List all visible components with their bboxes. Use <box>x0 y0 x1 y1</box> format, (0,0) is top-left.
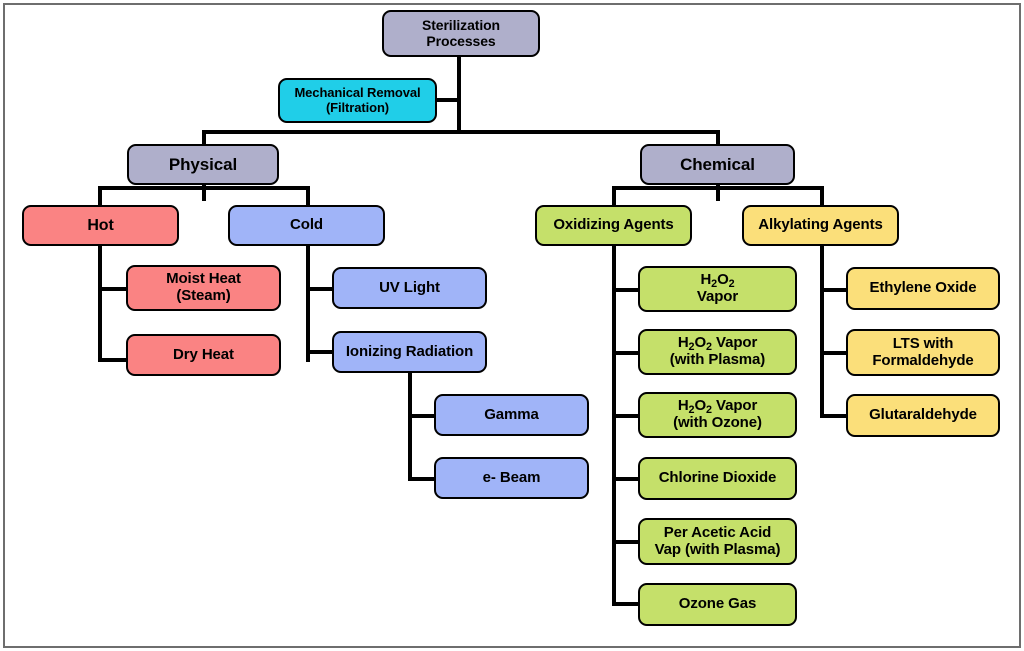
node-h2o2-ozone-line2: (with Ozone) <box>673 414 762 431</box>
connector-cold-spine <box>306 244 310 362</box>
connector-glutaraldehyde-tap <box>820 414 848 418</box>
node-root-line2: Processes <box>426 33 495 49</box>
connector-chlorine-dioxide-tap <box>612 477 640 481</box>
node-dry-heat[interactable]: Dry Heat <box>126 334 281 376</box>
node-lts-line1: LTS with <box>893 335 954 352</box>
connector-ionizing-spine <box>408 371 412 481</box>
node-ozone-gas[interactable]: Ozone Gas <box>638 583 797 626</box>
node-moist-heat-line2: (Steam) <box>176 287 230 304</box>
connector-cold-drop <box>306 186 310 206</box>
node-per-acetic-line2: Vap (with Plasma) <box>655 541 781 558</box>
connector-mechanical-tap <box>434 98 459 102</box>
connector-hot-spine <box>98 244 102 362</box>
connector-uv-tap <box>306 287 334 291</box>
node-ethylene-oxide-label: Ethylene Oxide <box>851 280 995 297</box>
node-sterilization-processes[interactable]: Sterilization Processes <box>382 10 540 57</box>
node-h2o2-ozone-formula: H2O2 Vapor <box>678 397 757 414</box>
connector-h2o2-ozone-tap <box>612 414 640 418</box>
node-e-beam-label: e- Beam <box>439 470 584 487</box>
node-chlorine-dioxide[interactable]: Chlorine Dioxide <box>638 457 797 500</box>
node-e-beam[interactable]: e- Beam <box>434 457 589 499</box>
connector-lts-tap <box>820 351 848 355</box>
node-chemical[interactable]: Chemical <box>640 144 795 185</box>
node-dry-heat-label: Dry Heat <box>131 347 276 364</box>
node-hot-label: Hot <box>27 217 174 235</box>
node-mechanical-line2: (Filtration) <box>326 100 389 115</box>
connector-chemical-bar <box>612 186 824 190</box>
node-alkylating-agents-label: Alkylating Agents <box>747 217 894 234</box>
node-chlorine-dioxide-label: Chlorine Dioxide <box>643 470 792 487</box>
node-per-acetic-line1: Per Acetic Acid <box>664 524 771 541</box>
connector-h2o2-plasma-tap <box>612 351 640 355</box>
node-alkylating-agents[interactable]: Alkylating Agents <box>742 205 899 246</box>
node-h2o2-plasma-line2: (with Plasma) <box>670 351 765 368</box>
connector-oxidizing-drop <box>612 186 616 206</box>
diagram-canvas: Sterilization Processes Mechanical Remov… <box>0 0 1024 651</box>
node-lts-with-formaldehyde[interactable]: LTS with Formaldehyde <box>846 329 1000 376</box>
node-oxidizing-agents[interactable]: Oxidizing Agents <box>535 205 692 246</box>
connector-dry-heat-tap <box>98 358 128 362</box>
node-ionizing-radiation[interactable]: Ionizing Radiation <box>332 331 487 373</box>
connector-physical-bar <box>98 186 310 190</box>
connector-ebeam-tap <box>408 477 436 481</box>
node-physical-label: Physical <box>132 155 274 174</box>
node-mechanical-line1: Mechanical Removal <box>294 85 420 100</box>
node-moist-heat-line1: Moist Heat <box>166 270 241 287</box>
node-root-line1: Sterilization <box>422 17 500 33</box>
node-per-acetic-acid-vap[interactable]: Per Acetic Acid Vap (with Plasma) <box>638 518 797 565</box>
node-h2o2-vapor-ozone[interactable]: H2O2 Vapor (with Ozone) <box>638 392 797 438</box>
connector-ozone-gas-tap <box>612 602 640 606</box>
node-ozone-gas-label: Ozone Gas <box>643 596 792 613</box>
connector-per-acetic-tap <box>612 540 640 544</box>
node-cold[interactable]: Cold <box>228 205 385 246</box>
node-ionizing-radiation-label: Ionizing Radiation <box>337 344 482 361</box>
connector-moist-heat-tap <box>98 287 128 291</box>
node-physical[interactable]: Physical <box>127 144 279 185</box>
node-uv-light-label: UV Light <box>337 280 482 297</box>
node-h2o2-vapor-formula: H2O2 <box>700 271 734 288</box>
connector-hot-drop <box>98 186 102 206</box>
node-hot[interactable]: Hot <box>22 205 179 246</box>
connector-alkylating-spine <box>820 244 824 418</box>
node-moist-heat[interactable]: Moist Heat (Steam) <box>126 265 281 311</box>
node-h2o2-plasma-formula: H2O2 Vapor <box>678 334 757 351</box>
connector-ionizing-tap <box>306 350 334 354</box>
node-glutaraldehyde-label: Glutaraldehyde <box>851 407 995 424</box>
connector-oxidizing-spine <box>612 244 616 606</box>
node-h2o2-vapor-plasma[interactable]: H2O2 Vapor (with Plasma) <box>638 329 797 375</box>
node-ethylene-oxide[interactable]: Ethylene Oxide <box>846 267 1000 310</box>
node-glutaraldehyde[interactable]: Glutaraldehyde <box>846 394 1000 437</box>
connector-main-split-bar <box>202 130 720 134</box>
node-h2o2-vapor-line2: Vapor <box>697 288 738 305</box>
connector-alkylating-drop <box>820 186 824 206</box>
connector-gamma-tap <box>408 414 436 418</box>
node-gamma[interactable]: Gamma <box>434 394 589 436</box>
connector-h2o2-vapor-tap <box>612 288 640 292</box>
node-h2o2-vapor[interactable]: H2O2 Vapor <box>638 266 797 312</box>
node-lts-line2: Formaldehyde <box>872 352 973 369</box>
node-uv-light[interactable]: UV Light <box>332 267 487 309</box>
node-chemical-label: Chemical <box>645 155 790 174</box>
connector-root-stem <box>457 55 461 132</box>
diagram-border-frame <box>3 3 1021 648</box>
node-mechanical-removal[interactable]: Mechanical Removal (Filtration) <box>278 78 437 123</box>
node-cold-label: Cold <box>233 217 380 234</box>
node-oxidizing-agents-label: Oxidizing Agents <box>540 217 687 234</box>
connector-ethylene-oxide-tap <box>820 288 848 292</box>
node-gamma-label: Gamma <box>439 407 584 424</box>
